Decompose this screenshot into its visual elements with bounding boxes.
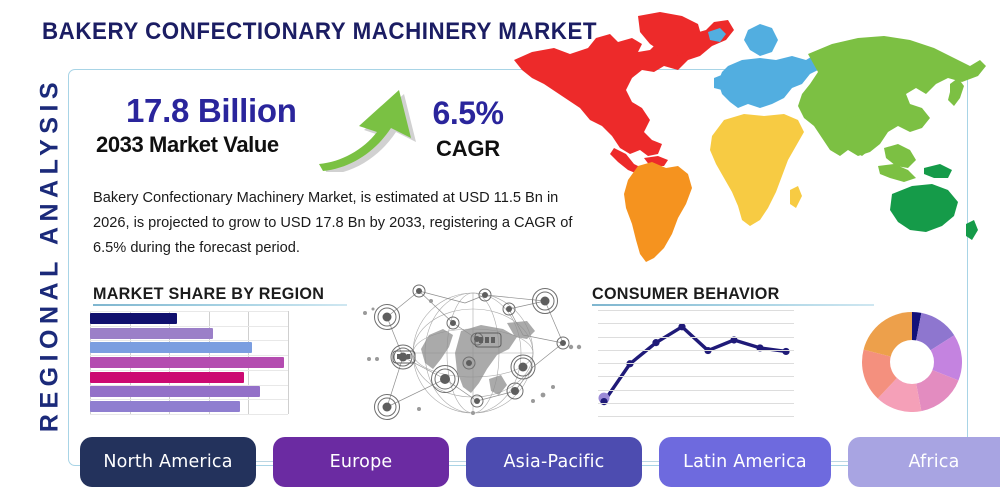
region-button-africa[interactable]: Africa (848, 437, 1000, 487)
line-gridline (598, 350, 794, 351)
kpi-market-value: 17.8 Billion (126, 92, 297, 130)
map-region-greenland (638, 12, 702, 56)
line-chart-marker (600, 398, 607, 405)
line-chart-marker (652, 339, 659, 346)
line-gridline (598, 323, 794, 324)
map-region-new-zealand (966, 220, 978, 240)
region-button-bar: North AmericaEuropeAsia-PacificLatin Ame… (80, 437, 986, 487)
bar-gridline-h (90, 326, 288, 327)
bar-gridline-h (90, 311, 288, 312)
region-button-label: Africa (908, 452, 959, 472)
line-gridline (598, 390, 794, 391)
bar-chart-bar (90, 372, 244, 383)
region-connector-line (831, 461, 848, 462)
map-region-north-america (514, 20, 734, 156)
bar-chart-bar (90, 401, 240, 412)
region-button-latin-america[interactable]: Latin America (659, 437, 831, 487)
map-region-new-guinea (924, 164, 952, 178)
line-gridline (598, 337, 794, 338)
global-network-globe-icon (357, 283, 589, 428)
map-region-japan (948, 78, 964, 106)
bar-chart-bar (90, 342, 252, 353)
region-connector-line (256, 461, 273, 462)
line-gridline (598, 310, 794, 311)
bar-gridline-h (90, 370, 288, 371)
bar-chart-bar (90, 357, 284, 368)
chart-donut-distribution (862, 312, 962, 412)
kpi-market-value-label: 2033 Market Value (96, 132, 279, 158)
line-gridline (598, 376, 794, 377)
region-button-europe[interactable]: Europe (273, 437, 449, 487)
market-description: Bakery Confectionary Machinery Market, i… (93, 186, 585, 261)
map-region-australia (890, 184, 958, 232)
line-chart-marker (678, 323, 685, 330)
cagr-label: CAGR (408, 136, 528, 162)
region-button-label: Latin America (683, 452, 807, 472)
bar-chart-bar (90, 328, 213, 339)
bar-gridline-h (90, 340, 288, 341)
bar-gridline-h (90, 355, 288, 356)
map-region-madagascar (790, 186, 802, 208)
region-button-north-america[interactable]: North America (80, 437, 256, 487)
map-region-indonesia (878, 164, 916, 182)
region-button-label: Europe (330, 452, 393, 472)
cagr-block: 6.5% CAGR (408, 95, 528, 162)
section-rule-market-share (93, 304, 347, 306)
line-gridline (598, 363, 794, 364)
region-connector-line (449, 461, 466, 462)
map-region-south-america (624, 162, 692, 262)
section-title-market-share: MARKET SHARE BY REGION (93, 284, 324, 304)
region-button-label: Asia-Pacific (503, 452, 604, 472)
map-region-scandinavia (744, 24, 778, 56)
bar-chart-bar (90, 313, 177, 324)
donut-hole (890, 340, 934, 384)
bar-gridline-h (90, 414, 288, 415)
map-region-africa (710, 114, 804, 226)
section-rule-consumer-behavior (592, 304, 874, 306)
line-gridline (598, 403, 794, 404)
region-button-label: North America (103, 452, 232, 472)
bar-gridline-h (90, 385, 288, 386)
section-title-consumer-behavior: CONSUMER BEHAVIOR (592, 284, 780, 304)
side-label-regional-analysis: REGIONAL ANALYSIS (36, 55, 65, 455)
region-connector-line (642, 461, 659, 462)
infographic-root: BAKERY CONFECTIONARY MACHINERY MARKET RE… (0, 0, 1000, 500)
chart-market-share-by-region (90, 311, 288, 414)
region-button-asia-pacific[interactable]: Asia-Pacific (466, 437, 642, 487)
chart-consumer-behavior (598, 310, 794, 416)
line-gridline (598, 416, 794, 417)
bar-gridline-h (90, 399, 288, 400)
map-region-southeast-asia (884, 144, 916, 168)
cagr-value: 6.5% (408, 95, 528, 132)
bar-chart-bar (90, 386, 260, 397)
bar-gridline-v (288, 311, 289, 414)
